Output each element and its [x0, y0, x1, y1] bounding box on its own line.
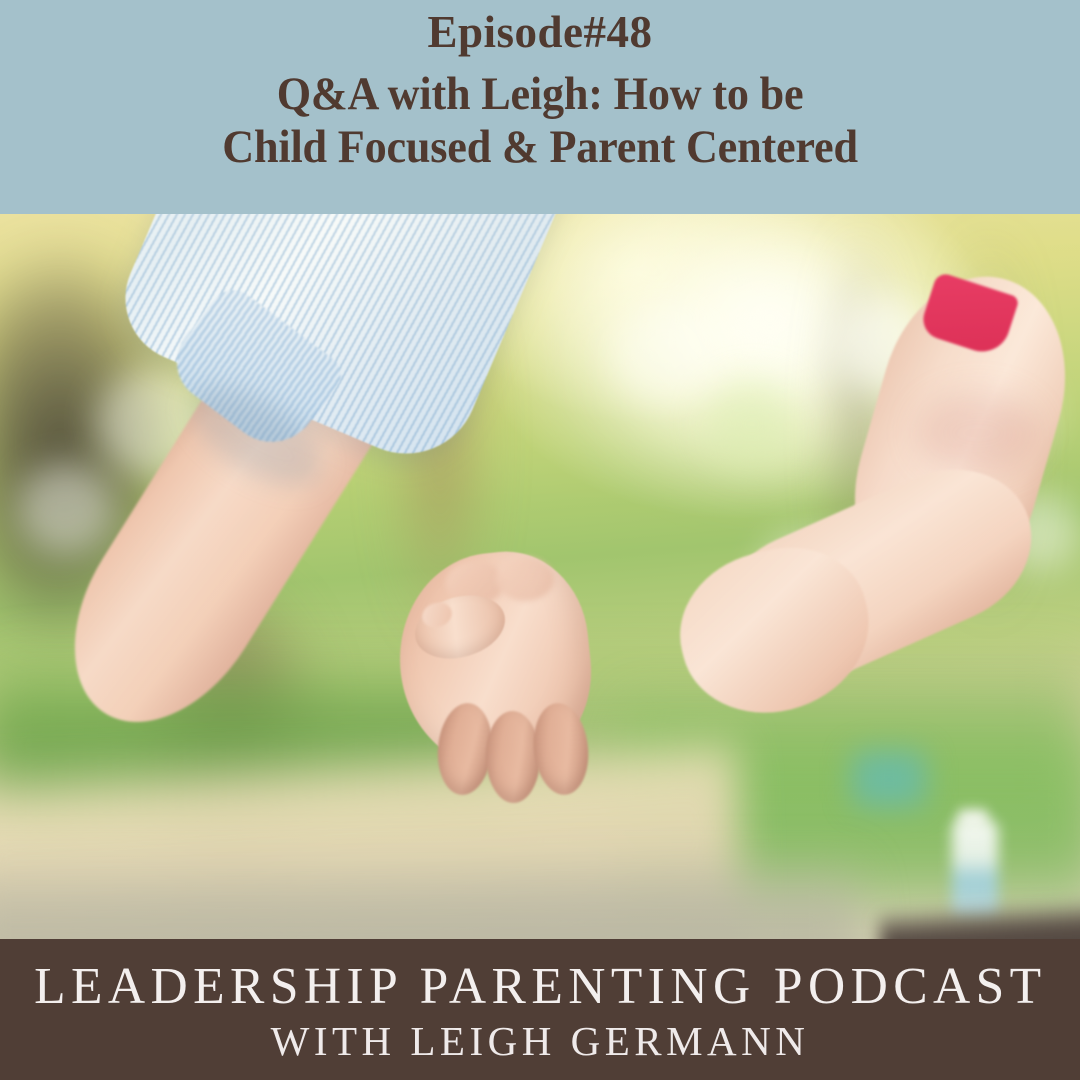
thumbnail: [419, 599, 455, 631]
tree-trunk-right: [760, 213, 960, 673]
dirt-path: [0, 739, 744, 941]
finger: [485, 711, 541, 804]
header-band: Episode#48 Q&A with Leigh: How to be Chi…: [0, 0, 1080, 214]
background-teal-object: [852, 751, 926, 807]
podcast-show-title: LEADERSHIP PARENTING PODCAST: [34, 958, 1046, 1016]
bokeh-highlight: [96, 369, 214, 477]
bokeh-highlight: [940, 363, 1052, 467]
bokeh-highlight: [892, 451, 978, 533]
episode-title-line-2: Child Focused & Parent Centered: [222, 121, 858, 174]
adult-forearm: [34, 245, 441, 758]
tree-trunk-left-dark: [0, 213, 300, 713]
knuckle: [496, 557, 554, 601]
water-bottle-cap: [958, 809, 988, 829]
tree-trunk-left-brown: [80, 543, 380, 941]
tree-trunk-center: [330, 213, 550, 683]
child-arm-shadow: [918, 393, 1038, 473]
episode-title-line-1: Q&A with Leigh: How to be: [222, 68, 858, 121]
sun-glow-highlight: [470, 213, 1080, 593]
child-forearm: [694, 442, 1056, 713]
adult-arm: [2, 245, 655, 941]
dirt-path-shadow: [0, 853, 860, 941]
child-hand: [663, 530, 886, 731]
park-bench: [878, 896, 1080, 941]
grass-band: [0, 643, 1080, 893]
episode-number-label: Episode#48: [427, 6, 652, 58]
adult-thumb: [408, 585, 513, 668]
child-arm: [700, 273, 1080, 893]
footer-band: LEADERSHIP PARENTING PODCAST WITH LEIGH …: [0, 939, 1080, 1080]
bokeh-highlight: [760, 533, 850, 617]
grass-left: [0, 658, 500, 838]
sleeve-shadow: [174, 367, 338, 506]
podcast-host-line: WITH LEIGH GERMANN: [271, 1018, 810, 1064]
bokeh-highlight: [836, 297, 932, 393]
bokeh-highlight: [612, 305, 716, 401]
finger: [434, 701, 496, 797]
bokeh-highlight: [706, 381, 798, 467]
sun-glow-core: [560, 213, 980, 483]
cover-photo: [0, 213, 1080, 941]
tree-trunk-far-right: [910, 213, 1080, 643]
bokeh-highlight: [1000, 493, 1080, 571]
grass-right: [620, 683, 1080, 913]
pink-sleeve: [901, 213, 1080, 364]
podcast-cover-art: Episode#48 Q&A with Leigh: How to be Chi…: [0, 0, 1080, 1080]
bokeh-highlight: [252, 277, 332, 353]
sleeve-cuff: [161, 280, 348, 460]
photo-haze-overlay: [0, 213, 1080, 941]
adult-palm: [389, 544, 600, 778]
episode-title: Q&A with Leigh: How to be Child Focused …: [222, 68, 858, 174]
pink-sleeve-inner-fold: [918, 271, 1020, 358]
finger: [529, 700, 592, 797]
water-bottle: [952, 821, 998, 917]
adult-hand: [400, 553, 630, 803]
bokeh-highlight: [18, 463, 114, 555]
knuckle: [446, 561, 504, 605]
child-upper-arm: [828, 255, 1080, 622]
blue-striped-sleeve: [106, 213, 585, 476]
